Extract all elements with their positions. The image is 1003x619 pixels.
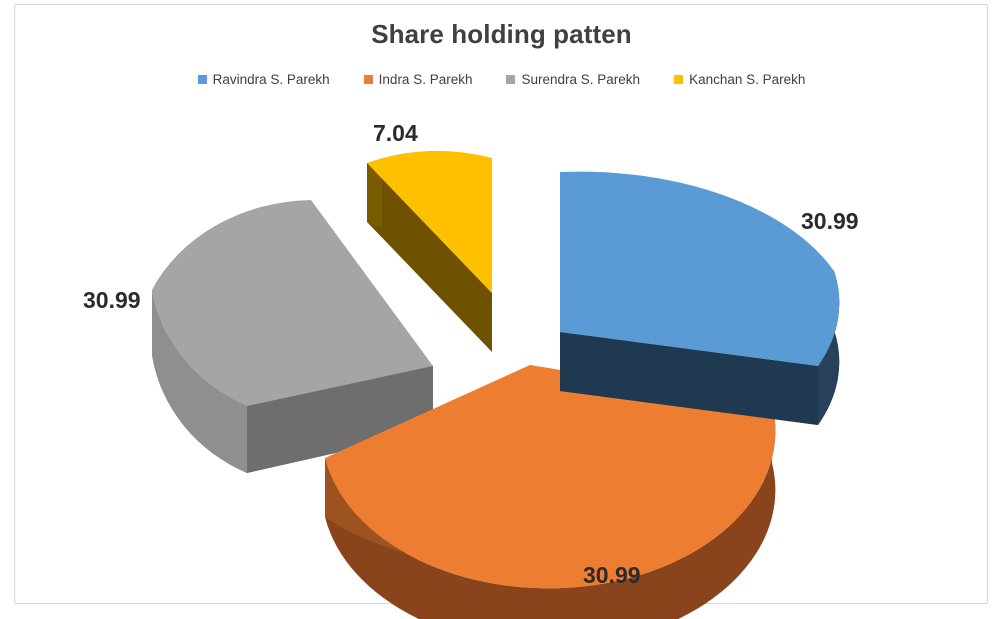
pie-slice-ravindra[interactable]: [560, 172, 839, 425]
data-label-surendra: 30.99: [83, 287, 141, 314]
pie-chart-container[interactable]: Share holding patten Ravindra S. Parekh …: [0, 0, 1003, 619]
pie-slice-ravindra-top: [560, 172, 839, 366]
pie-3d-graphic[interactable]: [0, 0, 1003, 619]
data-label-kanchan: 7.04: [373, 120, 418, 147]
data-label-indra: 30.99: [583, 562, 641, 589]
data-label-ravindra: 30.99: [801, 208, 859, 235]
